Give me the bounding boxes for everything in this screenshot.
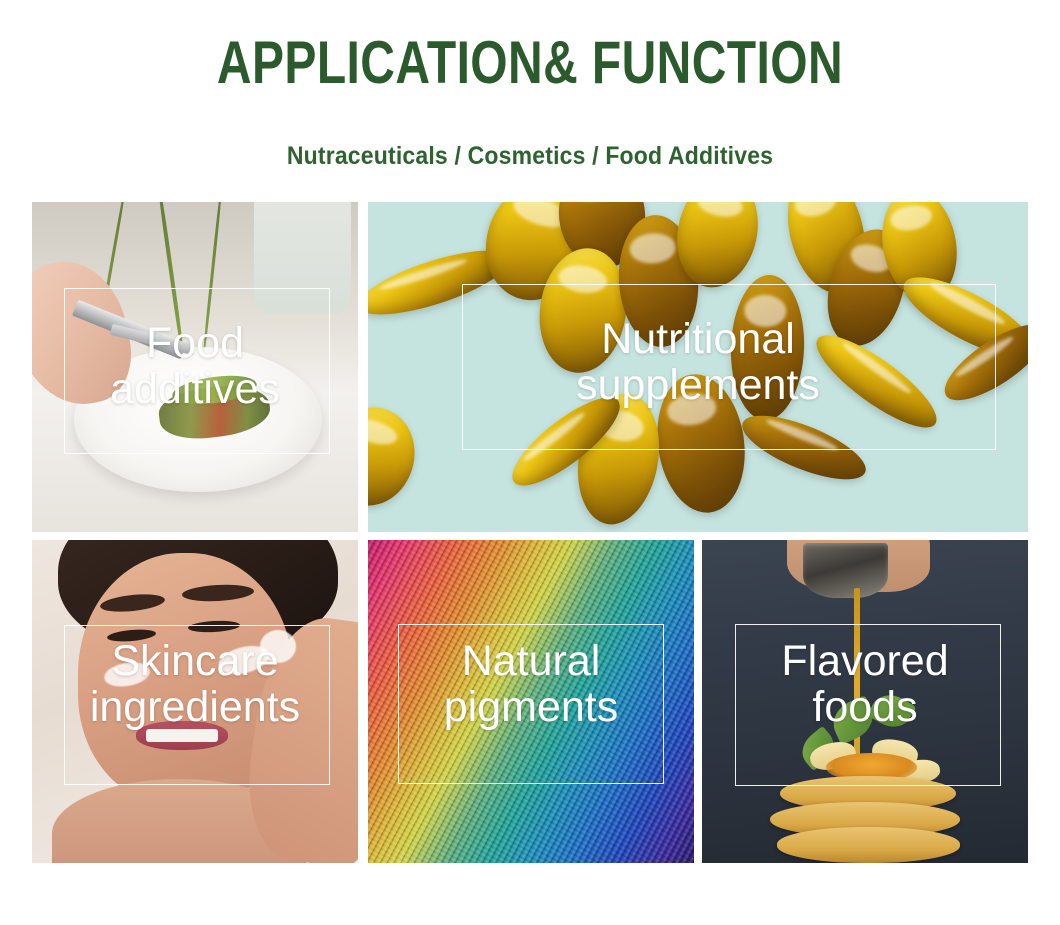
tile-nutritional-supplements[interactable]: Nutritional supplements xyxy=(368,202,1028,532)
plant-stem-icon xyxy=(203,202,223,354)
pancake-layer xyxy=(777,827,960,863)
vase-shape xyxy=(254,202,352,314)
tile-natural-pigments[interactable]: Natural pigments xyxy=(368,540,694,863)
pigment-grain-texture xyxy=(368,540,694,863)
application-tile-grid: Food additives Nutritional supplements xyxy=(32,202,1028,863)
nutritional-supplements-photo xyxy=(368,202,1028,532)
flavored-foods-photo xyxy=(702,540,1028,863)
softgel-capsule xyxy=(728,273,806,421)
softgel-capsule xyxy=(734,403,872,492)
page-title: APPLICATION& FUNCTION xyxy=(106,26,954,100)
food-additives-photo xyxy=(32,202,358,532)
tile-flavored-foods[interactable]: Flavored foods xyxy=(702,540,1028,863)
natural-pigments-photo xyxy=(368,540,694,863)
fingertip-cream xyxy=(260,630,296,662)
softgel-capsule xyxy=(805,322,948,442)
mint-leaf-icon xyxy=(866,687,916,735)
softgel-capsule xyxy=(368,397,426,516)
syrup-jug-icon xyxy=(803,543,888,598)
tile-food-additives[interactable]: Food additives xyxy=(32,202,358,532)
teeth-shape xyxy=(146,729,218,742)
skincare-ingredients-photo xyxy=(32,540,358,863)
mint-leaf-icon xyxy=(827,694,880,744)
page-subtitle: Nutraceuticals / Cosmetics / Food Additi… xyxy=(42,140,1017,172)
header: APPLICATION& FUNCTION Nutraceuticals / C… xyxy=(0,0,1060,200)
tile-skincare-ingredients[interactable]: Skincare ingredients xyxy=(32,540,358,863)
